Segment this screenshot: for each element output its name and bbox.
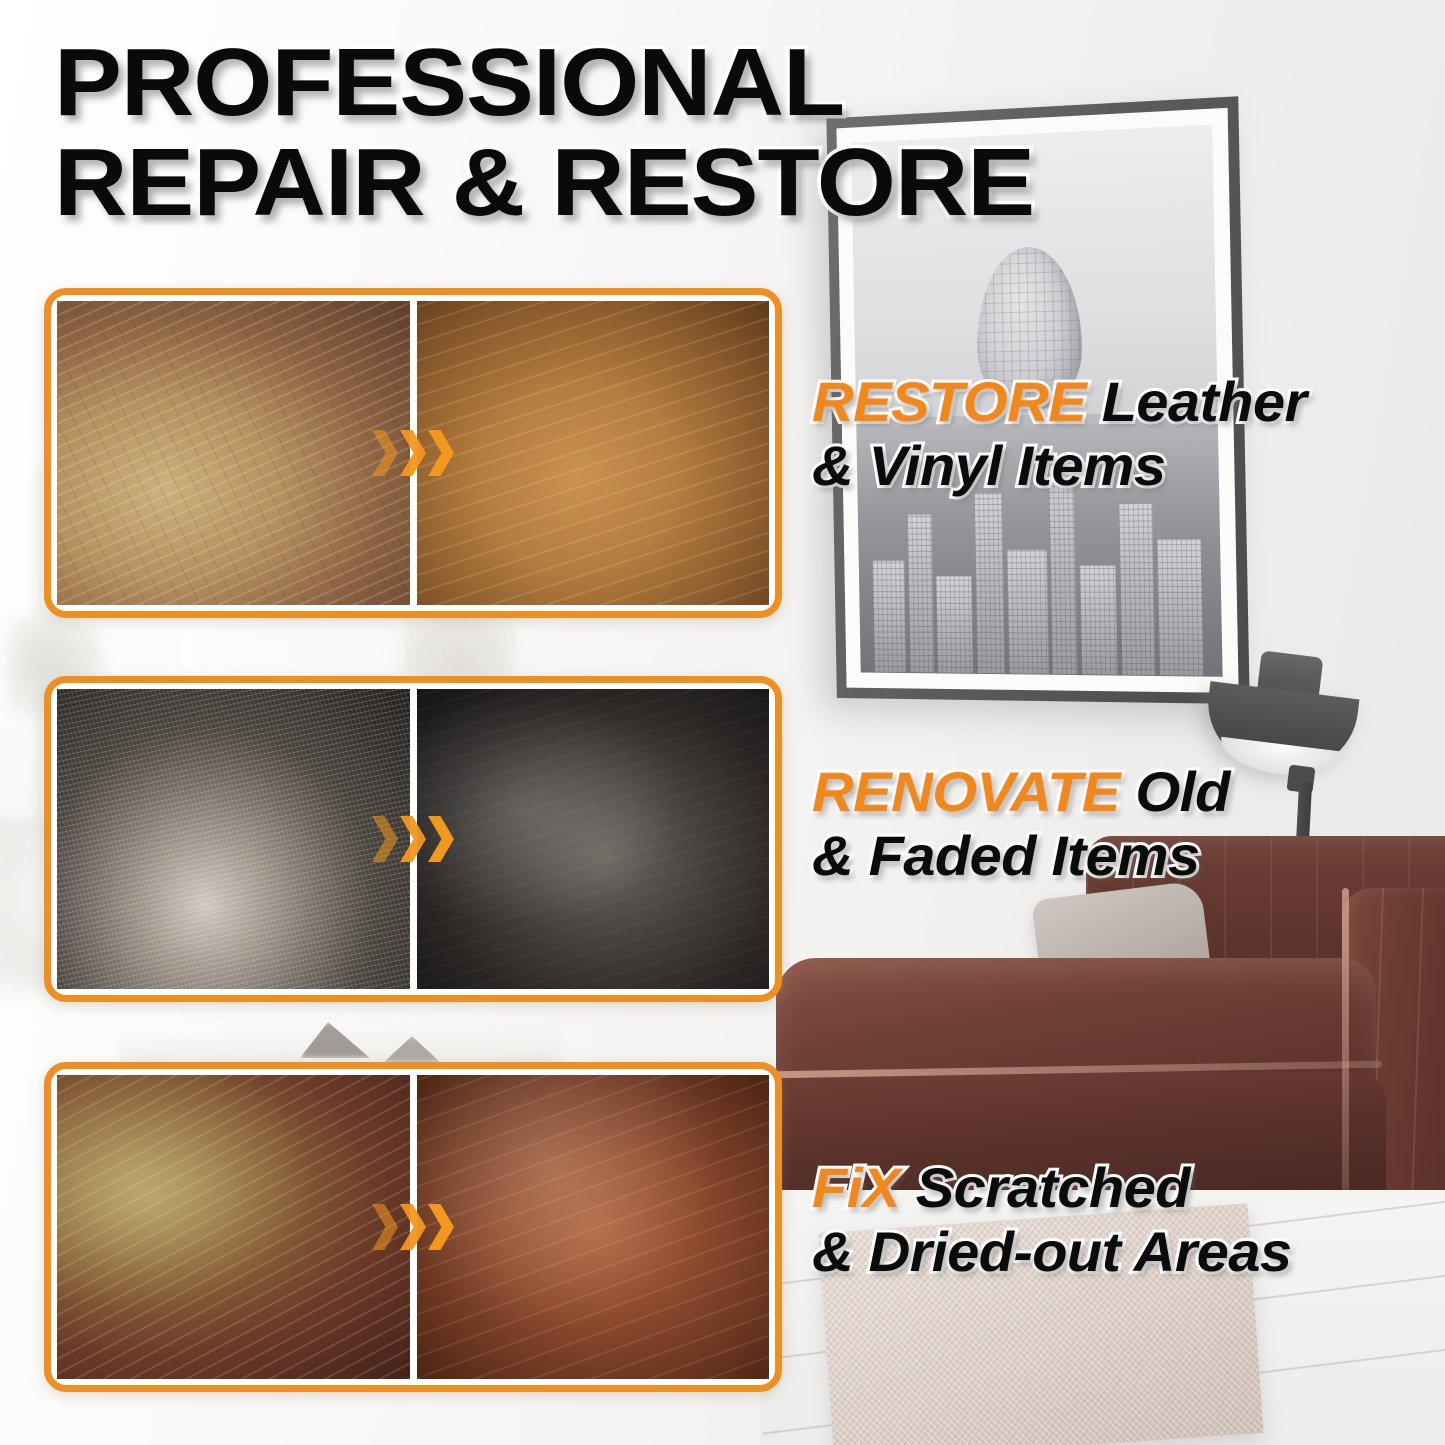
feature-2-line-1: RENOVATE Old (812, 762, 1445, 822)
before-after-panel-fix[interactable] (44, 1062, 782, 1392)
feature-2-keyword: RENOVATE (812, 760, 1120, 823)
feature-text-restore: RESTORE Leather & Vinyl Items (812, 372, 1445, 501)
feature-3-line-1: FiX Scratched (812, 1158, 1445, 1218)
feature-2-line-2: & Faded Items (812, 826, 1445, 886)
feature-3-keyword: FiX (812, 1156, 900, 1219)
feature-3-rest: Scratched (916, 1156, 1190, 1219)
after-image-renovate (417, 689, 770, 989)
before-image-restore (57, 301, 410, 605)
before-after-panel-restore[interactable] (44, 288, 782, 618)
feature-1-line-2: & Vinyl Items (812, 436, 1445, 496)
feature-2-rest: Old (1135, 760, 1230, 823)
headline-line-2: REPAIR & RESTORE (54, 136, 1231, 230)
feature-1-line-1: RESTORE Leather (812, 372, 1445, 432)
headline-line-1: PROFESSIONAL (54, 36, 1231, 130)
feature-1-keyword: RESTORE (812, 370, 1086, 433)
before-image-renovate (57, 689, 410, 989)
page-title: PROFESSIONAL REPAIR & RESTORE (54, 36, 1164, 236)
feature-1-rest: Leather (1102, 370, 1307, 433)
feature-text-renovate: RENOVATE Old & Faded Items (812, 762, 1445, 891)
before-image-fix (57, 1075, 410, 1379)
feature-3-line-2: & Dried-out Areas (812, 1222, 1445, 1282)
product-infographic: PROFESSIONAL REPAIR & RESTORE (0, 0, 1445, 1445)
feature-text-fix: FiX Scratched & Dried-out Areas (812, 1158, 1445, 1287)
after-image-restore (417, 301, 770, 605)
after-image-fix (417, 1075, 770, 1379)
before-after-panel-renovate[interactable] (44, 676, 782, 1002)
